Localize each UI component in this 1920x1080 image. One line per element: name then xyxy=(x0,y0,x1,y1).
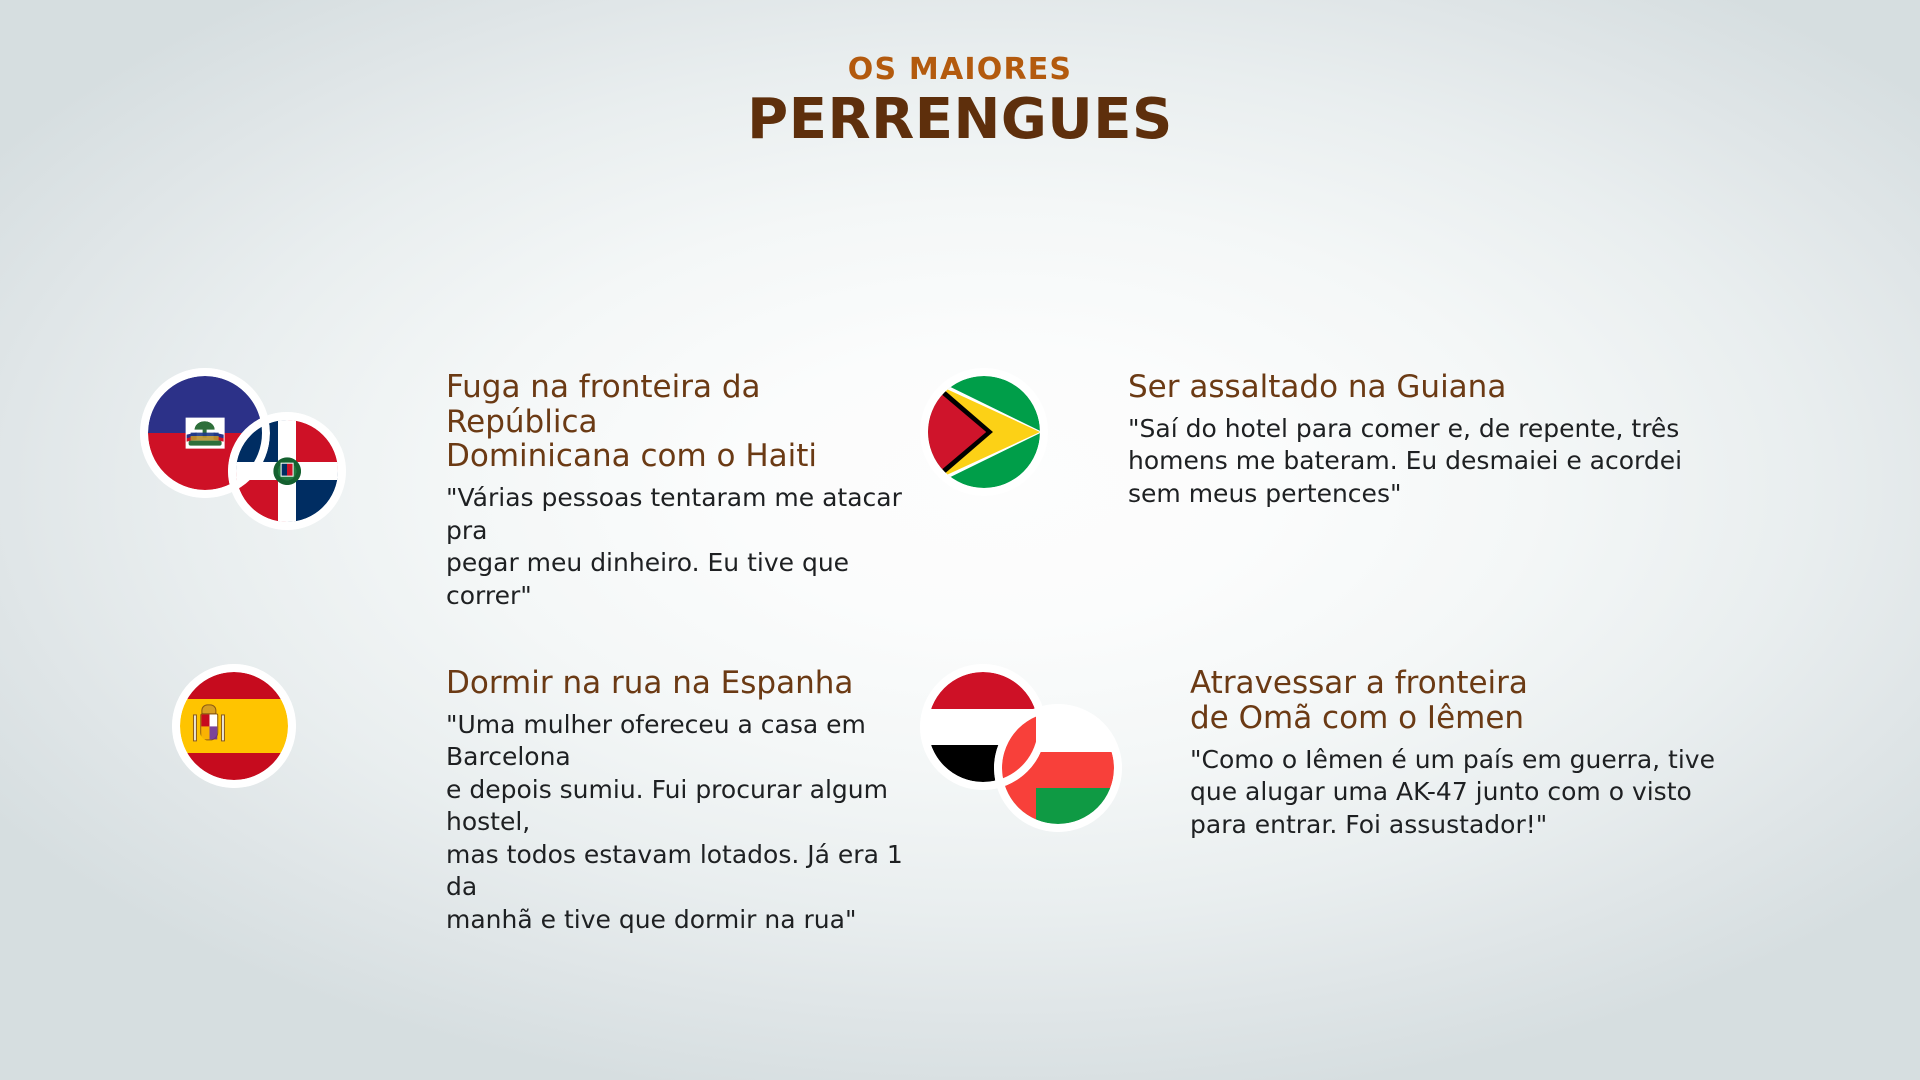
spain-flag-face xyxy=(180,672,288,780)
guyana-flag-face xyxy=(928,376,1040,488)
text-column: Ser assaltado na Guiana "Saí do hotel pa… xyxy=(1080,368,1920,510)
flag-column xyxy=(920,368,1080,548)
title-kicker: OS MAIORES xyxy=(0,54,1920,86)
flag-stack-haiti-dominicana xyxy=(140,368,390,548)
dominican-republic-flag-face xyxy=(236,420,338,522)
item-espanha: Dormir na rua na Espanha "Uma mulher ofe… xyxy=(0,664,920,936)
guyana-flag-icon xyxy=(920,368,1048,496)
item-title: Dormir na rua na Espanha xyxy=(446,666,920,701)
item-quote: "Como o Iêmen é um país em guerra, tive … xyxy=(1190,744,1920,842)
flag-column xyxy=(920,664,1150,854)
oman-flag-face xyxy=(1002,712,1114,824)
items-grid: Fuga na fronteira da República Dominican… xyxy=(0,368,1920,936)
page-title: PERRENGUES xyxy=(0,92,1920,148)
item-quote: "Saí do hotel para comer e, de repente, … xyxy=(1128,413,1920,511)
text-column: Atravessar a fronteira de Omã com o Iême… xyxy=(1150,664,1920,841)
flag-column xyxy=(140,664,390,844)
spain-flag-icon xyxy=(172,664,296,788)
item-haiti-dominicana: Fuga na fronteira da República Dominican… xyxy=(0,368,920,612)
flag-stack-guiana xyxy=(920,368,1080,548)
item-quote: "Uma mulher ofereceu a casa em Barcelona… xyxy=(446,709,920,937)
text-column: Dormir na rua na Espanha "Uma mulher ofe… xyxy=(390,664,920,936)
flag-stack-oma-iemen xyxy=(920,664,1150,854)
item-oma-iemen: Atravessar a fronteira de Omã com o Iême… xyxy=(920,664,1920,936)
items-row: Dormir na rua na Espanha "Uma mulher ofe… xyxy=(0,664,1920,936)
text-column: Fuga na fronteira da República Dominican… xyxy=(390,368,920,612)
item-title: Ser assaltado na Guiana xyxy=(1128,370,1920,405)
dominican-republic-flag-icon xyxy=(228,412,346,530)
infographic-page: OS MAIORES PERRENGUES xyxy=(0,0,1920,1080)
items-row: Fuga na fronteira da República Dominican… xyxy=(0,368,1920,612)
item-guiana: Ser assaltado na Guiana "Saí do hotel pa… xyxy=(920,368,1920,612)
item-quote: "Várias pessoas tentaram me atacar pra p… xyxy=(446,482,920,612)
item-title: Atravessar a fronteira de Omã com o Iême… xyxy=(1190,666,1920,735)
title-block: OS MAIORES PERRENGUES xyxy=(0,54,1920,148)
item-title: Fuga na fronteira da República Dominican… xyxy=(446,370,920,474)
flag-stack-espanha xyxy=(140,664,390,844)
oman-flag-icon xyxy=(994,704,1122,832)
flag-column xyxy=(140,368,390,548)
